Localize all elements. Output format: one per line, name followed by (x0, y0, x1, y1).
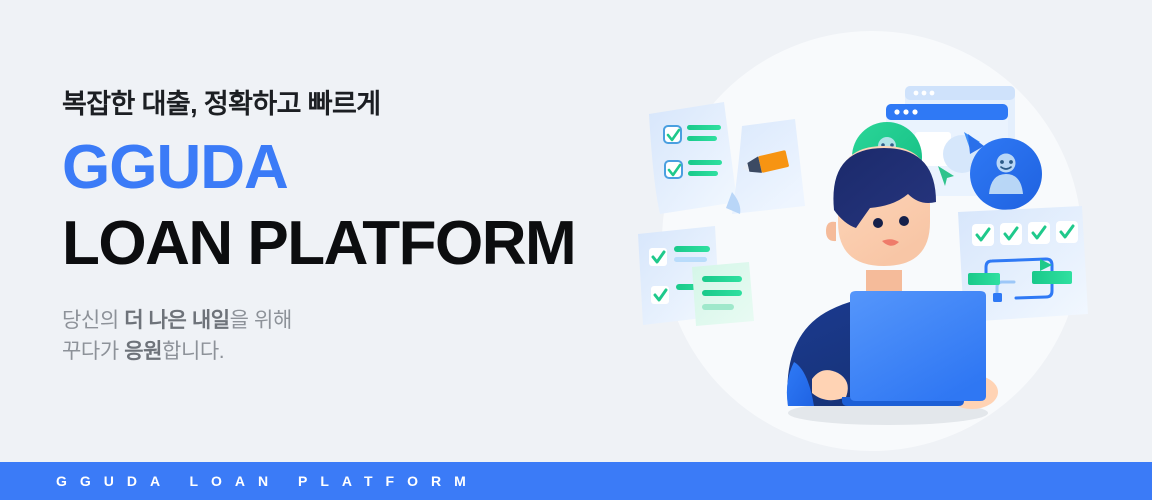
tagline-1-strong: 더 나은 내일 (124, 309, 229, 332)
hero-tagline: 당신의 더 나은 내일을 위해 꾸다가 응원합니다. (62, 305, 662, 368)
ticker-text: GGUDA LOAN PLATFORM (0, 473, 479, 489)
mint-note-card (692, 262, 754, 326)
brand-name: GGUDA (62, 137, 662, 199)
tagline-line-1: 당신의 더 나은 내일을 위해 (62, 305, 662, 337)
hero-copy: 복잡한 대출, 정확하고 빠르게 GGUDA LOAN PLATFORM 당신의… (62, 88, 662, 368)
eye-left (873, 218, 883, 228)
laptop-screen (850, 291, 986, 401)
tagline-1-post: 을 위해 (230, 309, 292, 332)
eye-right (899, 216, 909, 226)
bottom-ticker-bar: GGUDA LOAN PLATFORM (0, 462, 1152, 500)
product-name: LOAN PLATFORM (62, 213, 662, 275)
tagline-2-strong: 응원 (124, 340, 162, 363)
tagline-2-pre: 꾸다가 (62, 340, 124, 363)
tagline-line-2: 꾸다가 응원합니다. (62, 336, 662, 368)
tagline-1-pre: 당신의 (62, 309, 124, 332)
hero-banner: 복잡한 대출, 정확하고 빠르게 GGUDA LOAN PLATFORM 당신의… (0, 0, 1152, 500)
hero-eyebrow: 복잡한 대출, 정확하고 빠르게 (62, 88, 662, 121)
tagline-2-post: 합니다. (162, 340, 224, 363)
checklist-card-top-left (649, 102, 737, 214)
hero-illustration (620, 14, 1152, 460)
